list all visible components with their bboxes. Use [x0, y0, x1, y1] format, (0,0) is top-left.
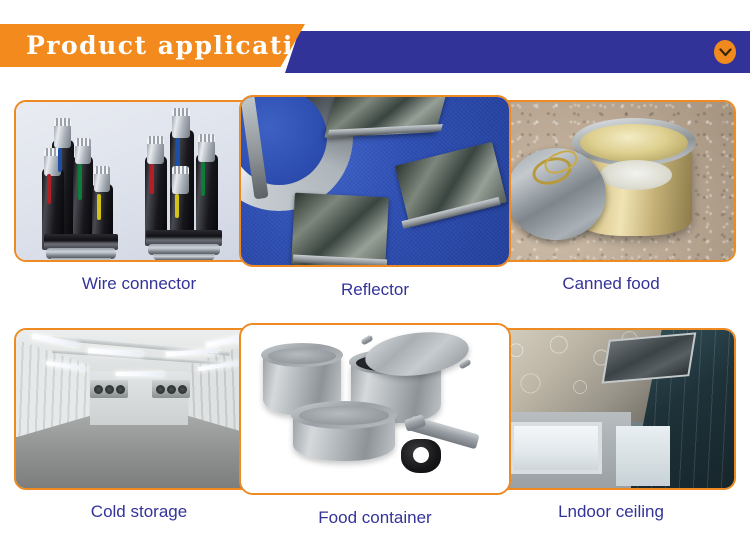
product-application-banner: Product application — [0, 0, 750, 544]
application-row: Cold storage — [0, 316, 750, 544]
photo-food-container — [241, 325, 509, 493]
header-blue-bar — [285, 31, 750, 73]
card-frame — [486, 100, 736, 262]
section-header: Product application — [0, 0, 750, 88]
card-caption: Cold storage — [14, 502, 264, 522]
application-card-reflector[interactable]: Reflector — [239, 88, 511, 316]
card-frame — [14, 328, 264, 490]
photo-reflector — [241, 97, 509, 265]
photo-cold-storage — [16, 330, 262, 488]
application-card-wire-connector[interactable]: Wire connector — [14, 88, 264, 316]
card-frame — [239, 323, 511, 495]
application-card-cold-storage[interactable]: Cold storage — [14, 316, 264, 544]
application-card-food-container[interactable]: Food container — [239, 316, 511, 544]
card-frame — [14, 100, 264, 262]
page-title: Product application — [26, 33, 332, 58]
header-orange-ribbon: Product application — [0, 24, 305, 67]
card-caption: Wire connector — [14, 274, 264, 294]
application-card-canned-food[interactable]: Canned food — [486, 88, 736, 316]
application-row: Wire connector — [0, 88, 750, 316]
photo-indoor-ceiling — [488, 330, 734, 488]
application-grid: Wire connector — [0, 88, 750, 544]
photo-wire-connector — [16, 102, 262, 260]
photo-canned-food — [488, 102, 734, 260]
card-frame — [239, 95, 511, 267]
card-frame — [486, 328, 736, 490]
card-caption: Food container — [239, 508, 511, 528]
card-caption: Reflector — [239, 280, 511, 300]
chevron-down-icon[interactable] — [714, 40, 736, 64]
card-caption: Lndoor ceiling — [486, 502, 736, 522]
application-card-indoor-ceiling[interactable]: Lndoor ceiling — [486, 316, 736, 544]
card-caption: Canned food — [486, 274, 736, 294]
